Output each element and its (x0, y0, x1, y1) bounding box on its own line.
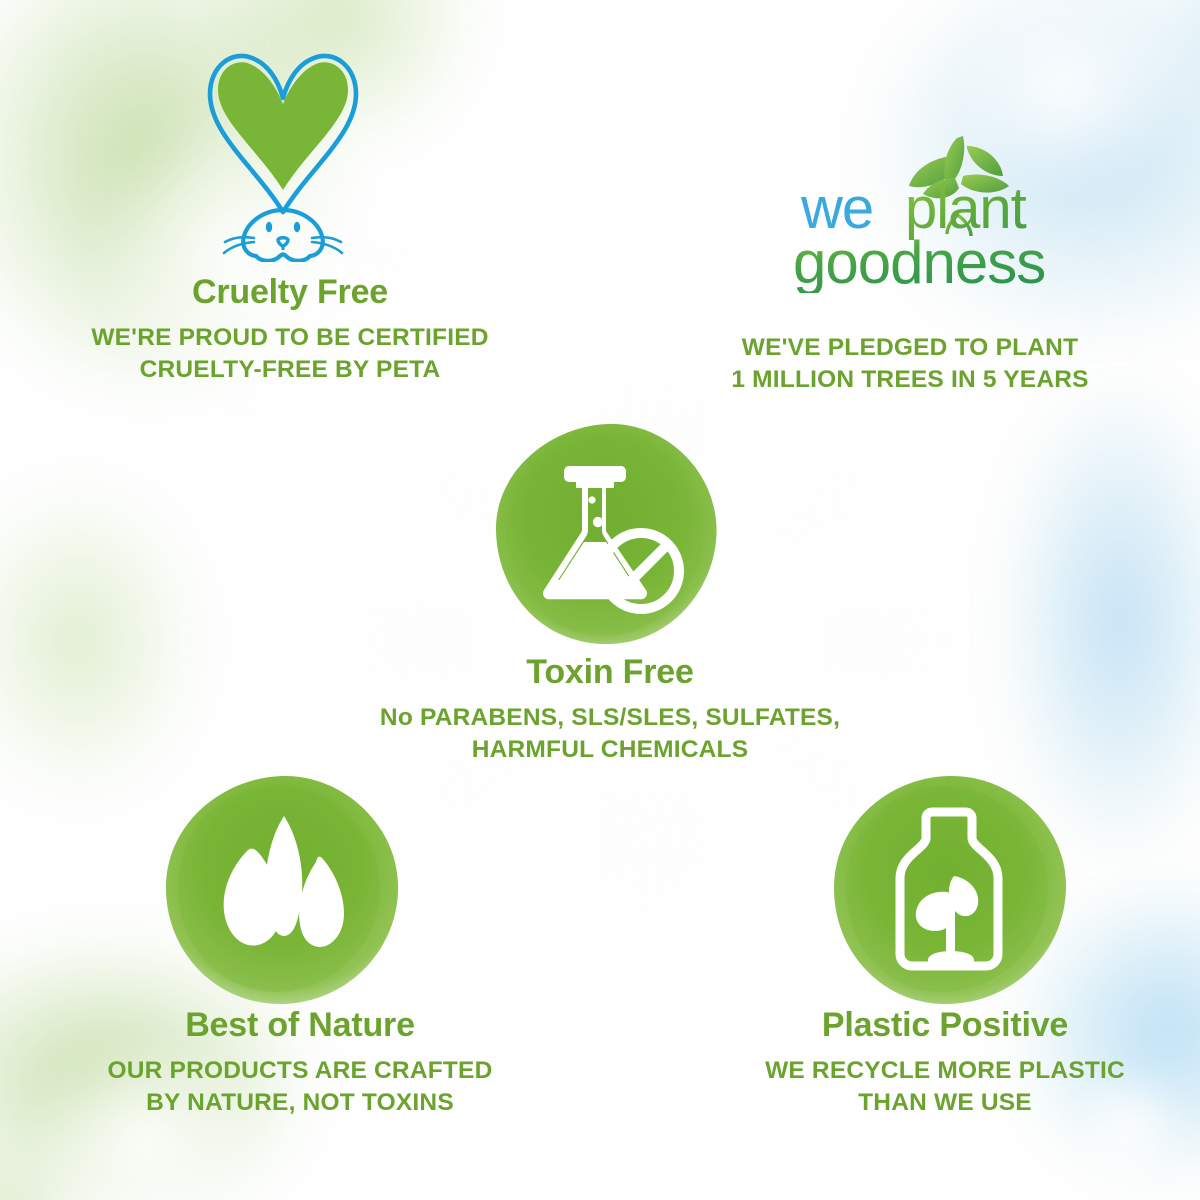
bottle-sprout-icon (828, 772, 1073, 1010)
logo-word-goodness: goodness (795, 229, 1045, 293)
peta-bunny-heart-icon (198, 42, 368, 262)
we-plant-goodness-logo: we plant goodness (795, 128, 1125, 293)
badge-title-toxin-free: Toxin Free (340, 655, 880, 691)
badge-description-we-plant-goodness: WE'VE PLEDGED TO PLANT 1 MILLION TREES I… (660, 332, 1160, 396)
badge-description-plastic-positive: WE RECYCLE MORE PLASTIC THAN WE USE (710, 1055, 1180, 1119)
infographic-canvas: we plant goodness (0, 0, 1200, 1200)
badge-we-plant-goodness: WE'VE PLEDGED TO PLANT 1 MILLION TREES I… (660, 332, 1160, 396)
badge-title-best-of-nature: Best of Nature (50, 1008, 550, 1044)
badge-title-cruelty-free: Cruelty Free (30, 275, 550, 311)
badge-description-toxin-free: No PARABENS, SLS/SLES, SULFATES, HARMFUL… (340, 702, 880, 766)
badge-best-of-nature: Best of Nature OUR PRODUCTS ARE CRAFTED … (50, 1008, 550, 1118)
badge-plastic-positive: Plastic Positive WE RECYCLE MORE PLASTIC… (710, 1008, 1180, 1118)
flask-no-sign-icon (488, 418, 728, 650)
badge-cruelty-free: Cruelty Free WE'RE PROUD TO BE CERTIFIED… (30, 275, 550, 385)
badge-description-cruelty-free: WE'RE PROUD TO BE CERTIFIED CRUELTY-FREE… (30, 322, 550, 386)
three-leaves-icon (160, 772, 405, 1010)
badge-description-best-of-nature: OUR PRODUCTS ARE CRAFTED BY NATURE, NOT … (50, 1055, 550, 1119)
badge-toxin-free: Toxin Free No PARABENS, SLS/SLES, SULFAT… (340, 655, 880, 765)
badge-title-plastic-positive: Plastic Positive (710, 1008, 1180, 1044)
